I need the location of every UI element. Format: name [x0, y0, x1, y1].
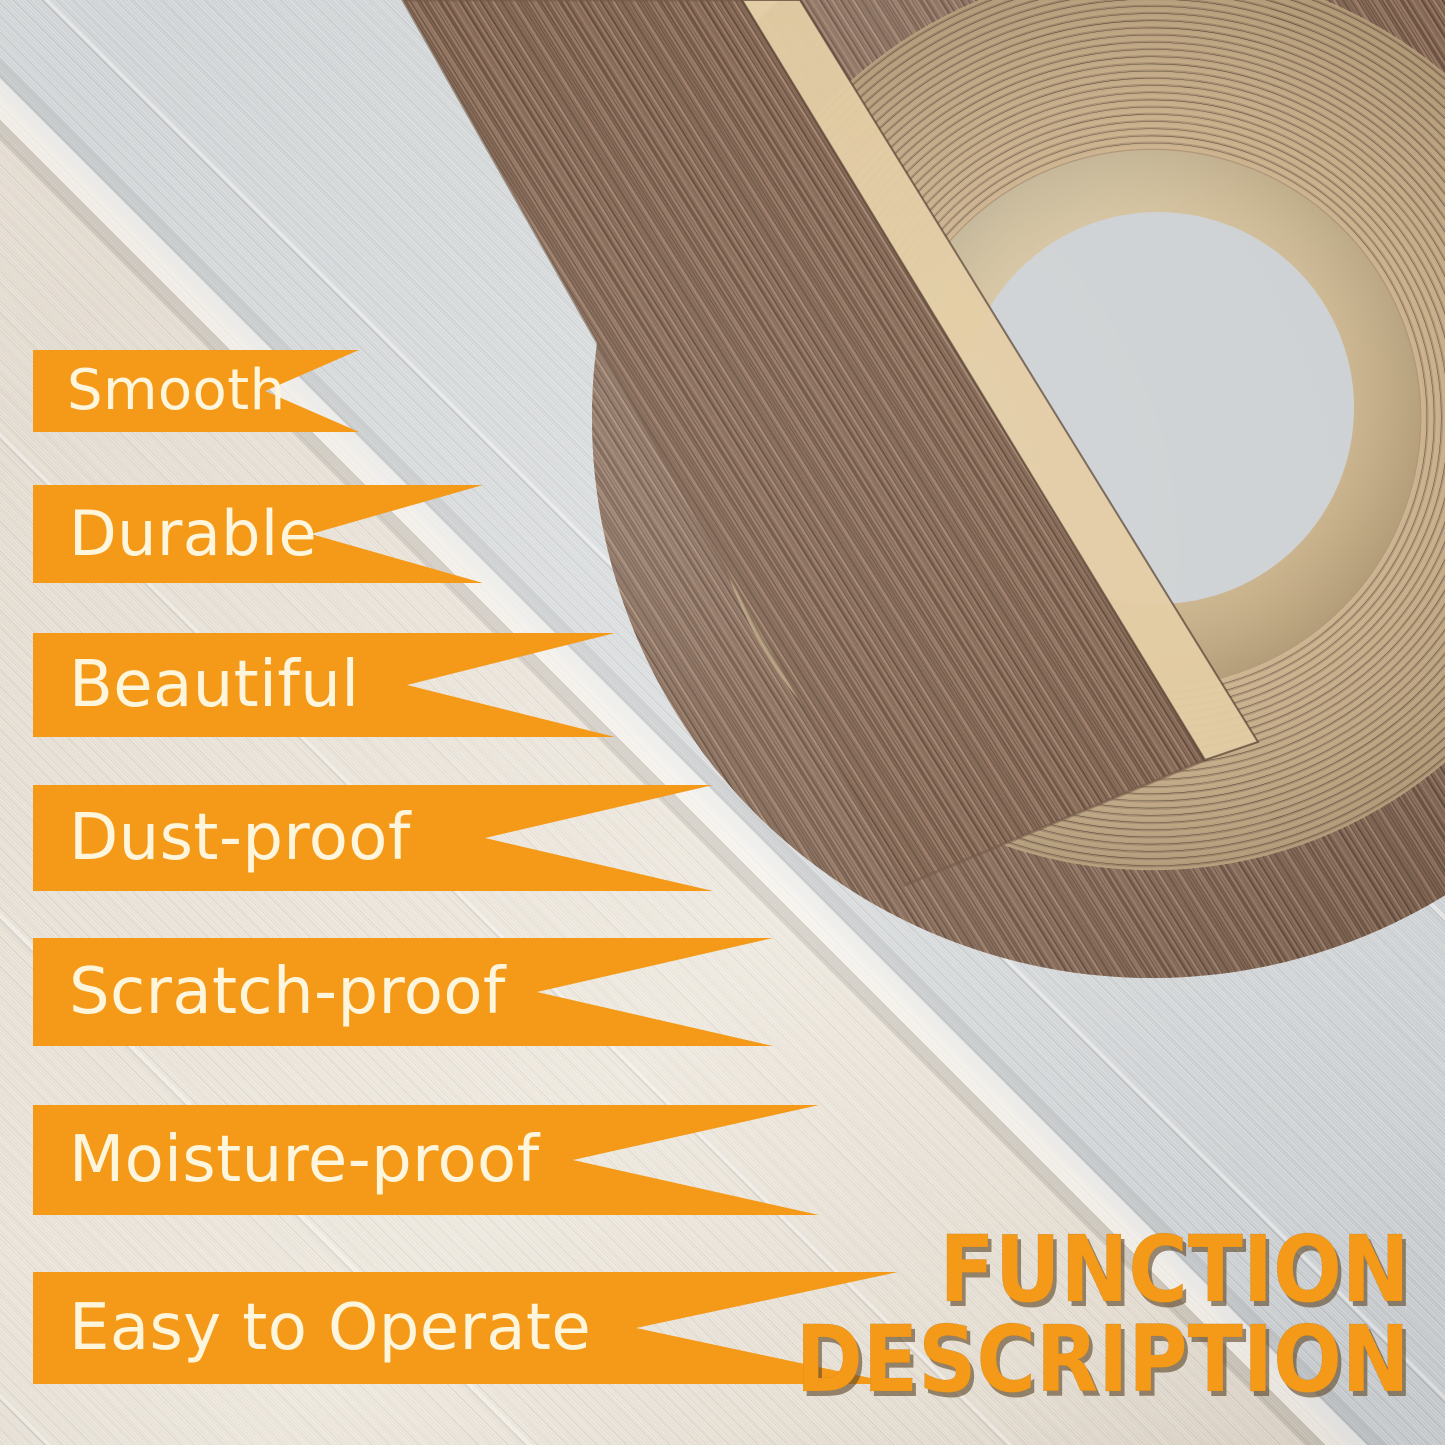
- feature-banner: Smooth: [33, 350, 359, 432]
- feature-banner-label: Scratch-proof: [69, 960, 506, 1024]
- function-description-title: FUNCTION DESCRIPTION: [712, 1225, 1410, 1405]
- feature-banner: Scratch-proof: [33, 938, 773, 1046]
- feature-banner: Durable: [33, 485, 483, 583]
- title-line-2: DESCRIPTION: [796, 1315, 1410, 1405]
- feature-banner-label: Durable: [69, 503, 317, 565]
- feature-banner-label: Beautiful: [69, 653, 359, 717]
- feature-banner-label: Dust-proof: [69, 806, 411, 870]
- feature-banner: Moisture-proof: [33, 1105, 819, 1215]
- feature-banner-label: Easy to Operate: [69, 1296, 591, 1360]
- feature-banner: Dust-proof: [33, 785, 713, 891]
- title-line-1: FUNCTION: [796, 1225, 1410, 1315]
- product-infographic: SmoothDurableBeautifulDust-proofScratch-…: [0, 0, 1445, 1445]
- feature-banner: Beautiful: [33, 633, 615, 737]
- feature-banner-label: Smooth: [67, 363, 285, 419]
- feature-banner-label: Moisture-proof: [69, 1128, 540, 1192]
